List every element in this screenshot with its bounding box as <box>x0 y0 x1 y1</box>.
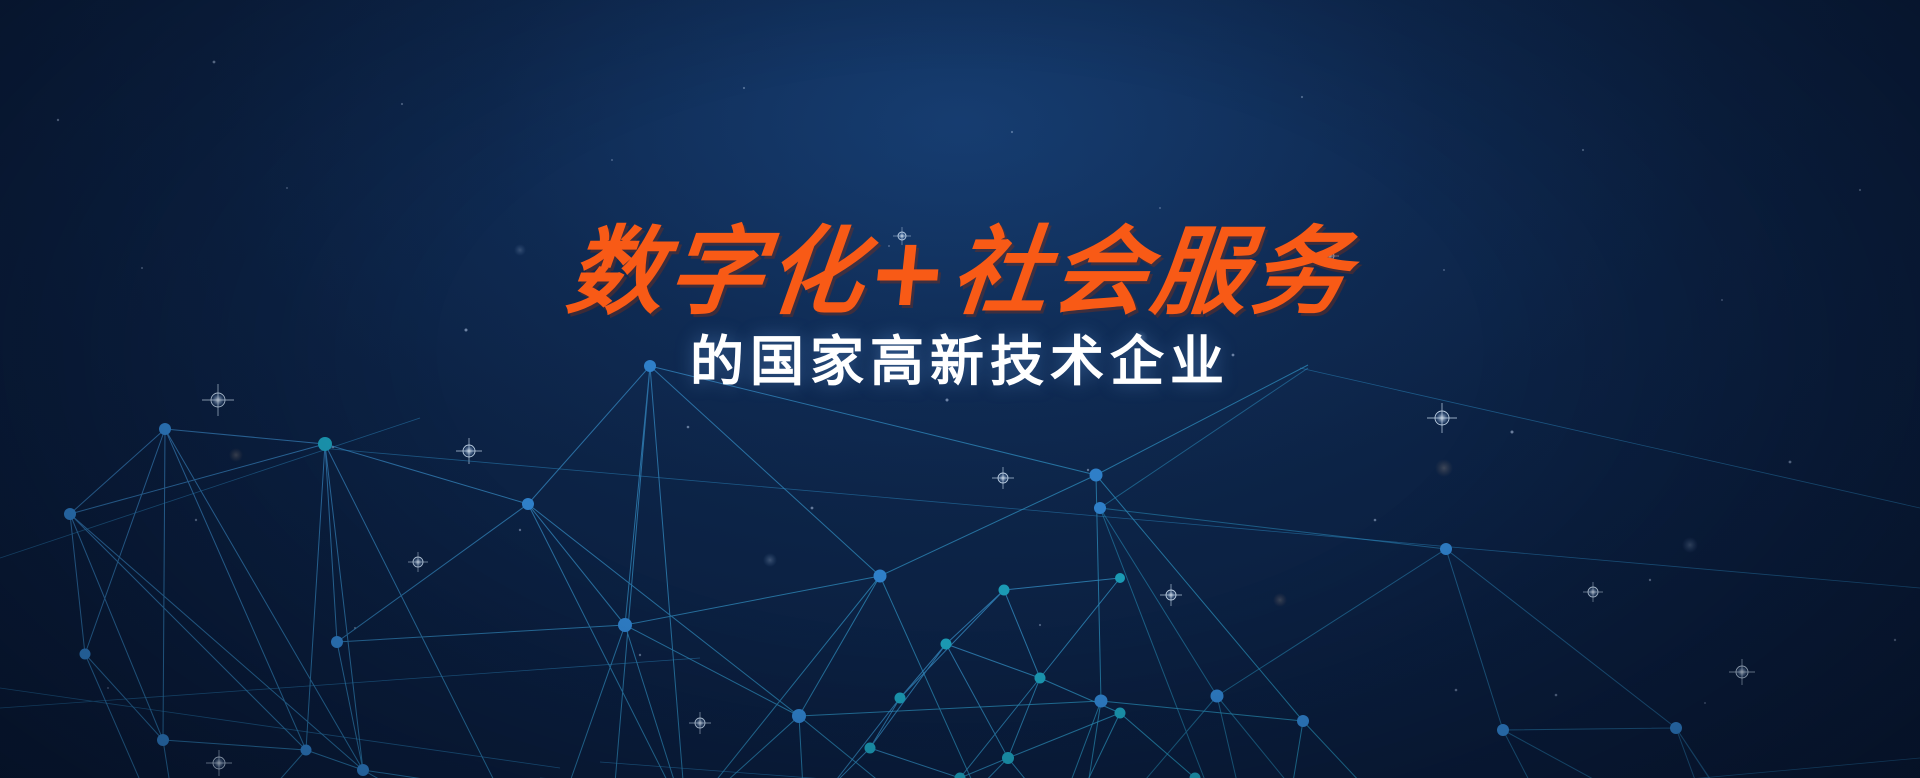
network-mesh-graphic <box>0 358 1920 778</box>
mesh-edges-right <box>1039 368 1859 778</box>
mesh-edges-center-bottom <box>830 578 1195 778</box>
mesh-nodes <box>64 360 1865 778</box>
mesh-long-lines <box>0 368 1920 778</box>
mesh-edges-left <box>70 365 1450 778</box>
page-title: 数字化+社会服务 <box>0 224 1920 320</box>
hero-banner: 数字化+社会服务 的国家高新技术企业 <box>0 0 1920 778</box>
